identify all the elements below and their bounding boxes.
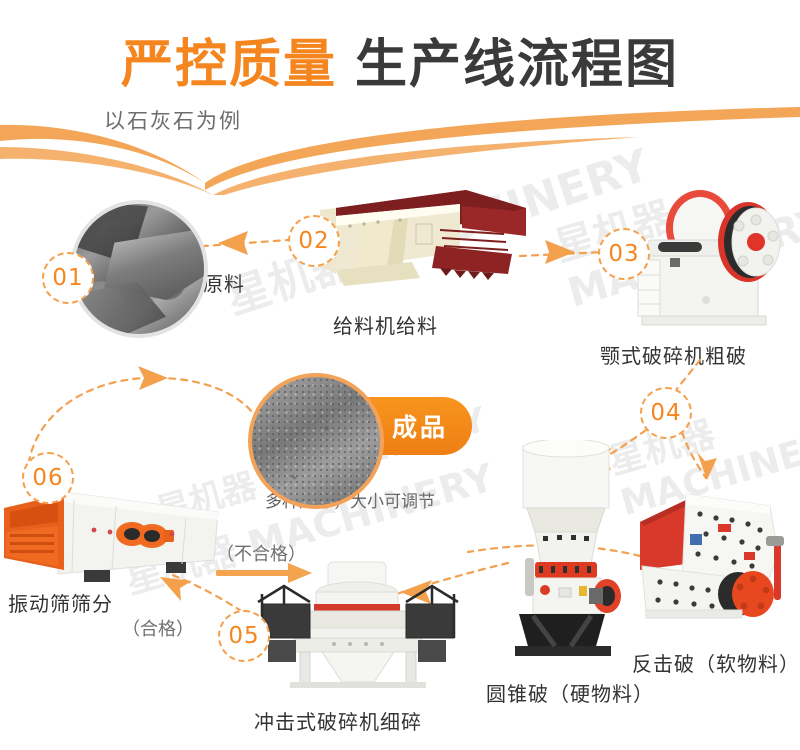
branch-caption-cone: 圆锥破（硬物料） [486, 678, 654, 707]
step-caption-05: 冲击式破碎机细碎 [254, 706, 422, 735]
image-impact-crusher [620, 478, 800, 638]
arrow-left-icon [545, 240, 575, 264]
step-badge-04[interactable]: 04 [640, 387, 692, 439]
title-highlight: 严控质量 [121, 35, 337, 95]
arrow-right-icon [216, 562, 316, 584]
arrow-right-icon [138, 366, 168, 390]
step-caption-06: 振动筛筛分 [8, 588, 113, 617]
step-caption-01: 原料 [203, 268, 245, 297]
step-badge-03[interactable]: 03 [598, 228, 650, 280]
infographic-canvas: 严控质量生产线流程图 以石灰石为例 星机器 MACHINERY 星机器 MACH… [0, 0, 800, 750]
finished-product-label: 成品 [392, 408, 448, 444]
step-badge-02[interactable]: 02 [288, 215, 340, 267]
step-badge-01[interactable]: 01 [42, 252, 94, 304]
page-title: 严控质量生产线流程图 [0, 22, 800, 97]
branch-caption-impact: 反击破（软物料） [632, 648, 800, 677]
arrow-down-right-icon [697, 452, 717, 480]
title-main: 生产线流程图 [355, 35, 679, 95]
step-caption-03: 颚式破碎机粗破 [600, 340, 747, 369]
step-caption-02: 给料机给料 [333, 310, 438, 339]
step-badge-06[interactable]: 06 [22, 452, 74, 504]
photo-finished-product [248, 373, 384, 509]
image-jaw-crusher [630, 180, 800, 340]
flow-label-pass: （合格） [122, 615, 194, 641]
step-badge-05[interactable]: 05 [218, 610, 270, 662]
arrow-left-icon [218, 231, 248, 255]
